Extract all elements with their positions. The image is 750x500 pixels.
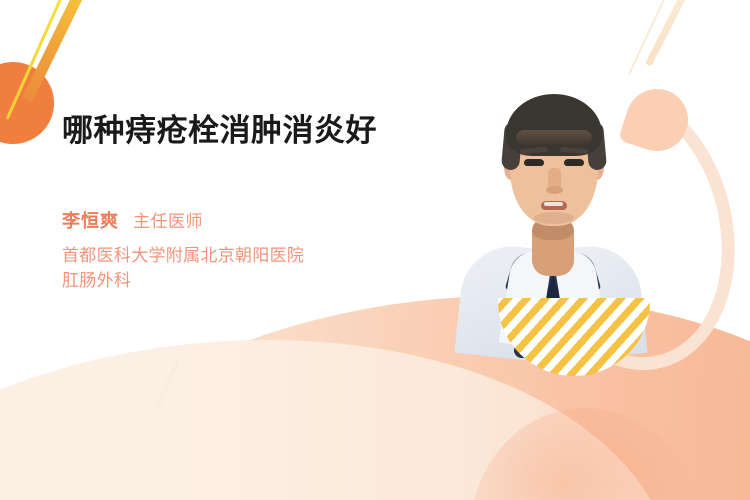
page-title: 哪种痔疮栓消肿消炎好 — [62, 110, 422, 151]
doctor-intro-card: 哪种痔疮栓消肿消炎好 李恒爽 主任医师 首都医科大学附属北京朝阳医院 肛肠外科 — [0, 0, 750, 500]
faint-cream-stroke-bottom-icon — [155, 359, 181, 409]
soft-blob-shade — [470, 408, 700, 500]
yellow-diagonal-stroke-icon — [6, 0, 64, 120]
eye-left — [524, 159, 544, 166]
text-column: 哪种痔疮栓消肿消炎好 李恒爽 主任医师 首都医科大学附属北京朝阳医院 肛肠外科 — [62, 110, 422, 293]
eye-right — [564, 159, 584, 166]
hair — [506, 94, 602, 156]
doctor-photo-cluster — [430, 60, 720, 390]
faint-cream-stroke-top-right-icon — [645, 0, 692, 67]
doctor-rank: 主任医师 — [133, 207, 203, 232]
doctor-name: 李恒爽 — [62, 207, 119, 233]
doctor-byline: 李恒爽 主任医师 — [62, 207, 422, 233]
doctor-department: 肛肠外科 — [62, 268, 422, 293]
forehead-shading — [516, 130, 592, 146]
chin-shading — [534, 212, 574, 224]
teeth — [544, 202, 563, 206]
doctor-affiliation: 首都医科大学附属北京朝阳医院 肛肠外科 — [62, 243, 422, 293]
nose-tip — [546, 186, 563, 194]
doctor-hospital: 首都医科大学附属北京朝阳医院 — [62, 243, 422, 268]
